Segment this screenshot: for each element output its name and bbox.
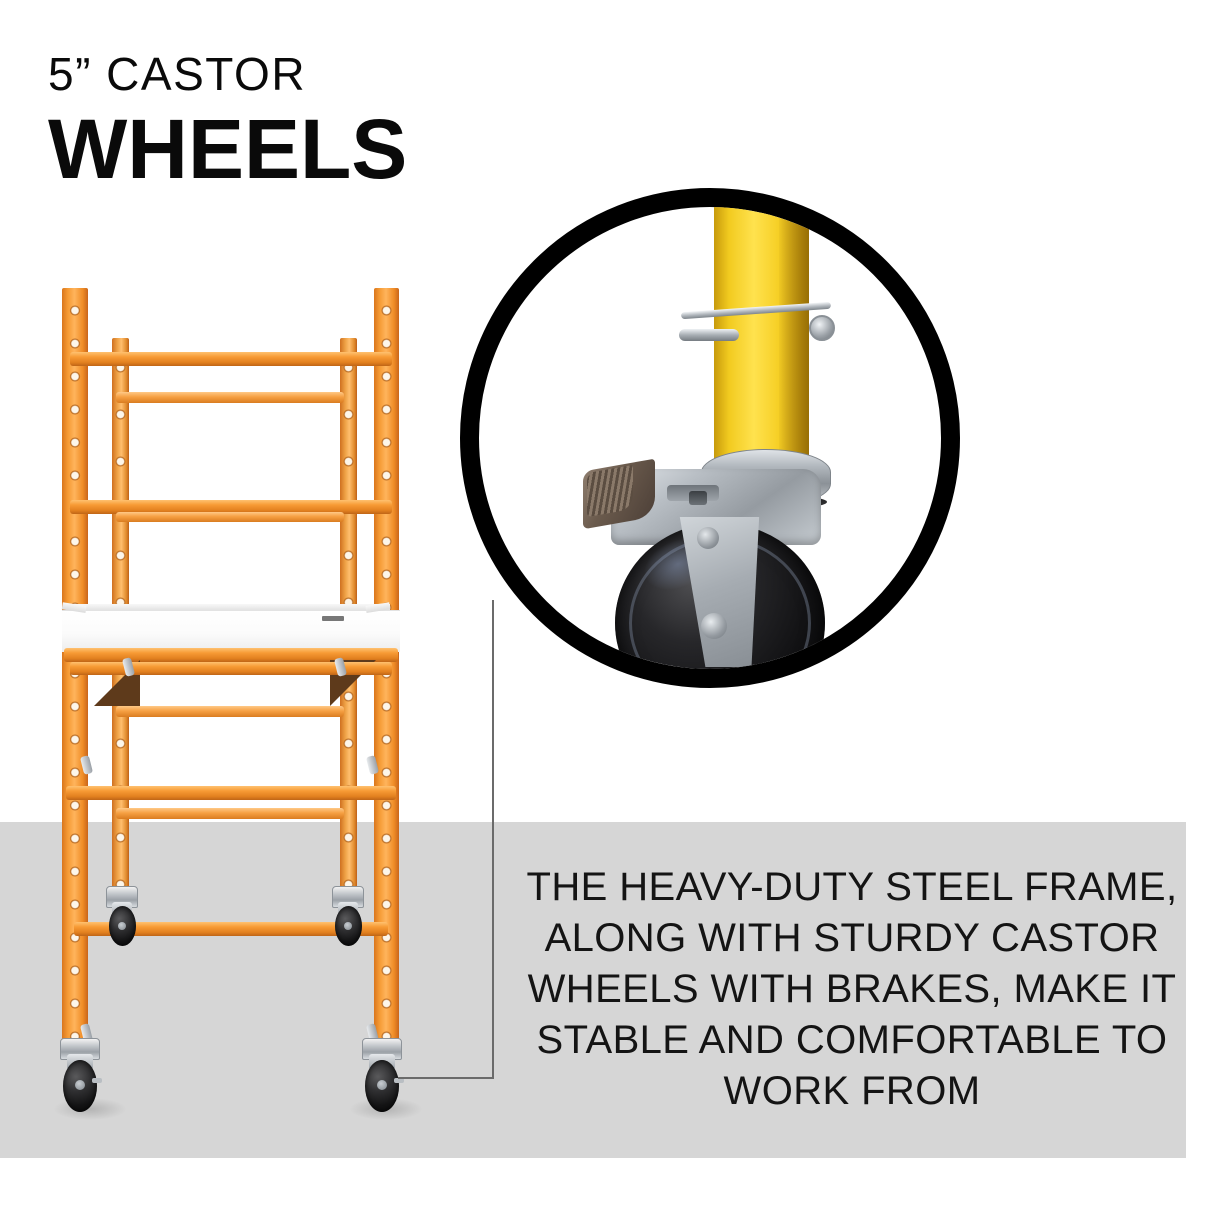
castor-wheel-front-left (60, 1038, 100, 1112)
castor-axle-bolt (701, 613, 727, 639)
platform-deck (62, 610, 400, 652)
castor-fork-bolt-top (697, 527, 719, 549)
locking-pin-ring (809, 315, 835, 341)
castor-axle-pin (92, 1078, 102, 1083)
castor-wheel-rear-left (106, 886, 138, 948)
castor-hub (344, 922, 352, 930)
caption-text: THE HEAVY-DUTY STEEL FRAME, ALONG WITH S… (512, 862, 1192, 1117)
guardrail-mid-rear (116, 512, 344, 522)
yellow-leg-shading (779, 188, 809, 477)
locking-pin-rod (679, 329, 739, 341)
castor-hub (75, 1080, 85, 1090)
guardrail-top-rear (116, 392, 344, 403)
castor-closeup-callout (460, 188, 960, 688)
callout-photo (479, 207, 941, 669)
castor-wheel-front-right (362, 1038, 402, 1112)
leader-line-vertical (492, 600, 494, 1079)
castor-hub (118, 922, 126, 930)
guardrail-top-front (70, 352, 392, 366)
infographic-page: 5” CASTOR WHEELS (0, 0, 1214, 1214)
deck-hinge-detail (322, 616, 344, 621)
brake-knob (689, 491, 707, 505)
castor-hub (377, 1080, 387, 1090)
rail-bottom-rear (116, 808, 344, 819)
rail-lower-rear (116, 706, 344, 717)
rail-bottom-front (66, 786, 396, 800)
leader-line-horizontal (398, 1077, 494, 1079)
castor-wheel-rear-right (332, 886, 364, 948)
scaffold-illustration (0, 0, 470, 1214)
